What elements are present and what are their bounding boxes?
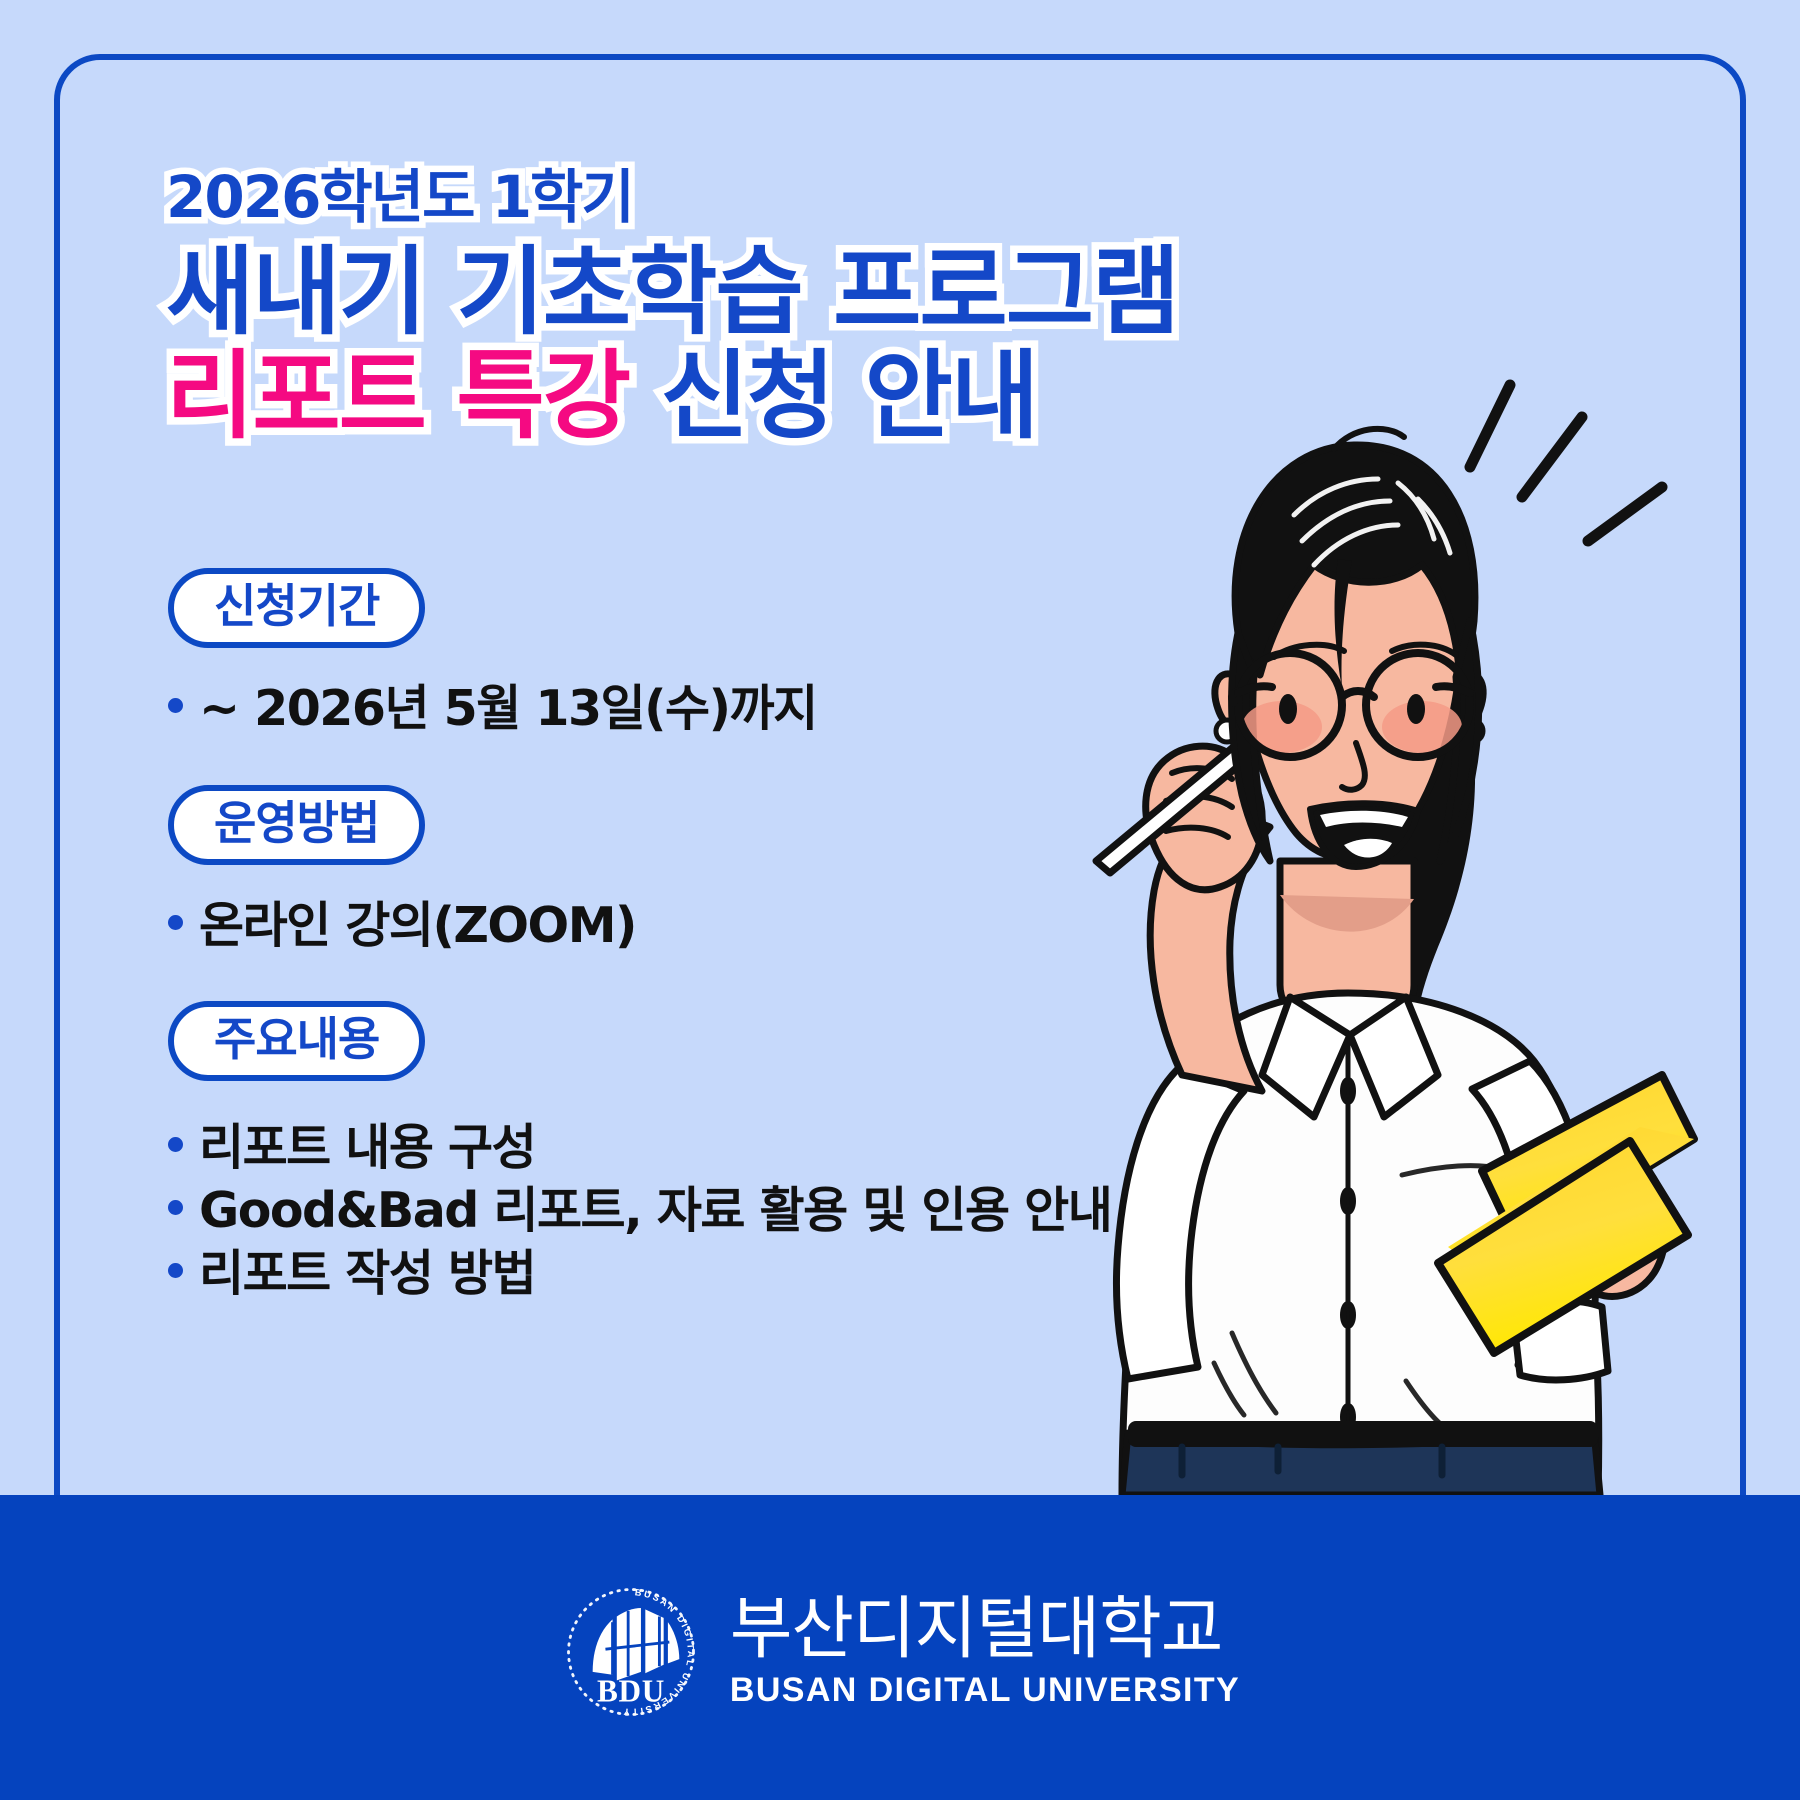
list-item: 리포트 내용 구성 (168, 1117, 1068, 1180)
spacer (168, 1081, 1068, 1117)
spacer (168, 741, 1068, 785)
badge-main-content: 주요내용 (168, 1001, 425, 1081)
headline-line-2-emphasis: 리포트 특강 (166, 340, 629, 452)
shirt-buttons (1343, 1080, 1353, 1428)
hand-with-pen (1096, 723, 1274, 890)
motion-lines (1470, 385, 1662, 541)
hair-ponytail (1342, 606, 1475, 1135)
list-item-label: 온라인 강의(ZOOM) (199, 895, 636, 958)
badge-application-period: 신청기간 (168, 568, 425, 648)
badge-delivery-method: 운영방법 (168, 785, 425, 865)
bdu-emblem-icon: BUSAN DIGITAL UNIVERSITY BDU (560, 1581, 702, 1723)
headline-block: 2026학년도 1학기 새내기 기초학습 프로그램 리포트 특강 신청 안내 (166, 168, 1178, 444)
bullet-list-main-content: 리포트 내용 구성 Good&Bad 리포트, 자료 활용 및 인용 안내 리포… (168, 1117, 1068, 1305)
earring-right (1461, 720, 1483, 742)
earring-left (1216, 720, 1238, 742)
list-item-label: Good&Bad 리포트, 자료 활용 및 인용 안내 (199, 1180, 1111, 1243)
spacer (168, 957, 1068, 1001)
list-item: 온라인 강의(ZOOM) (168, 895, 1068, 958)
university-logo: BUSAN DIGITAL UNIVERSITY BDU (560, 1581, 1240, 1723)
headline-kicker: 2026학년도 1학기 (166, 168, 1178, 226)
spacer (168, 865, 1068, 895)
bullet-dot-icon (168, 1200, 183, 1215)
list-item-label: ~ 2026년 5월 13일(수)까지 (199, 678, 817, 741)
pen (1096, 723, 1274, 873)
bullet-dot-icon (168, 1137, 183, 1152)
bullet-dot-icon (168, 698, 183, 713)
info-section-main-content: 주요내용 리포트 내용 구성 Good&Bad 리포트, 자료 활용 및 인용 … (168, 1001, 1068, 1305)
footer-bar: BUSAN DIGITAL UNIVERSITY BDU (0, 1495, 1800, 1800)
university-name-english: BUSAN DIGITAL UNIVERSITY (730, 1673, 1240, 1707)
headline-line-1: 새내기 기초학습 프로그램 (166, 244, 1178, 340)
list-item: ~ 2026년 5월 13일(수)까지 (168, 678, 1068, 741)
list-item: Good&Bad 리포트, 자료 활용 및 인용 안내 (168, 1180, 1068, 1243)
list-item-label: 리포트 작성 방법 (199, 1243, 535, 1306)
headline-line-2-rest: 신청 안내 (629, 340, 1037, 452)
university-name-korean: 부산디지털대학교 (730, 1596, 1240, 1664)
yellow-book (1438, 1075, 1694, 1353)
headline-line-2: 리포트 특강 신청 안내 (166, 348, 1178, 444)
info-section-application-period: 신청기간 ~ 2026년 5월 13일(수)까지 (168, 568, 1068, 741)
info-block: 신청기간 ~ 2026년 5월 13일(수)까지 운영방법 온라인 강의(ZOO… (168, 568, 1068, 1306)
info-section-delivery-method: 운영방법 온라인 강의(ZOOM) (168, 785, 1068, 958)
bullet-dot-icon (168, 915, 183, 930)
university-name-block: 부산디지털대학교 BUSAN DIGITAL UNIVERSITY (730, 1596, 1240, 1707)
bullet-list-application-period: ~ 2026년 5월 13일(수)까지 (168, 678, 1068, 741)
spacer (168, 648, 1068, 678)
poster-canvas: 2026학년도 1학기 새내기 기초학습 프로그램 리포트 특강 신청 안내 (0, 0, 1800, 1800)
glasses (1232, 653, 1470, 757)
svg-text:BDU: BDU (597, 1673, 665, 1708)
list-item: 리포트 작성 방법 (168, 1243, 1068, 1306)
bullet-list-delivery-method: 온라인 강의(ZOOM) (168, 895, 1068, 958)
hair-highlights (1294, 479, 1450, 565)
bullet-dot-icon (168, 1263, 183, 1278)
list-item-label: 리포트 내용 구성 (199, 1117, 535, 1180)
